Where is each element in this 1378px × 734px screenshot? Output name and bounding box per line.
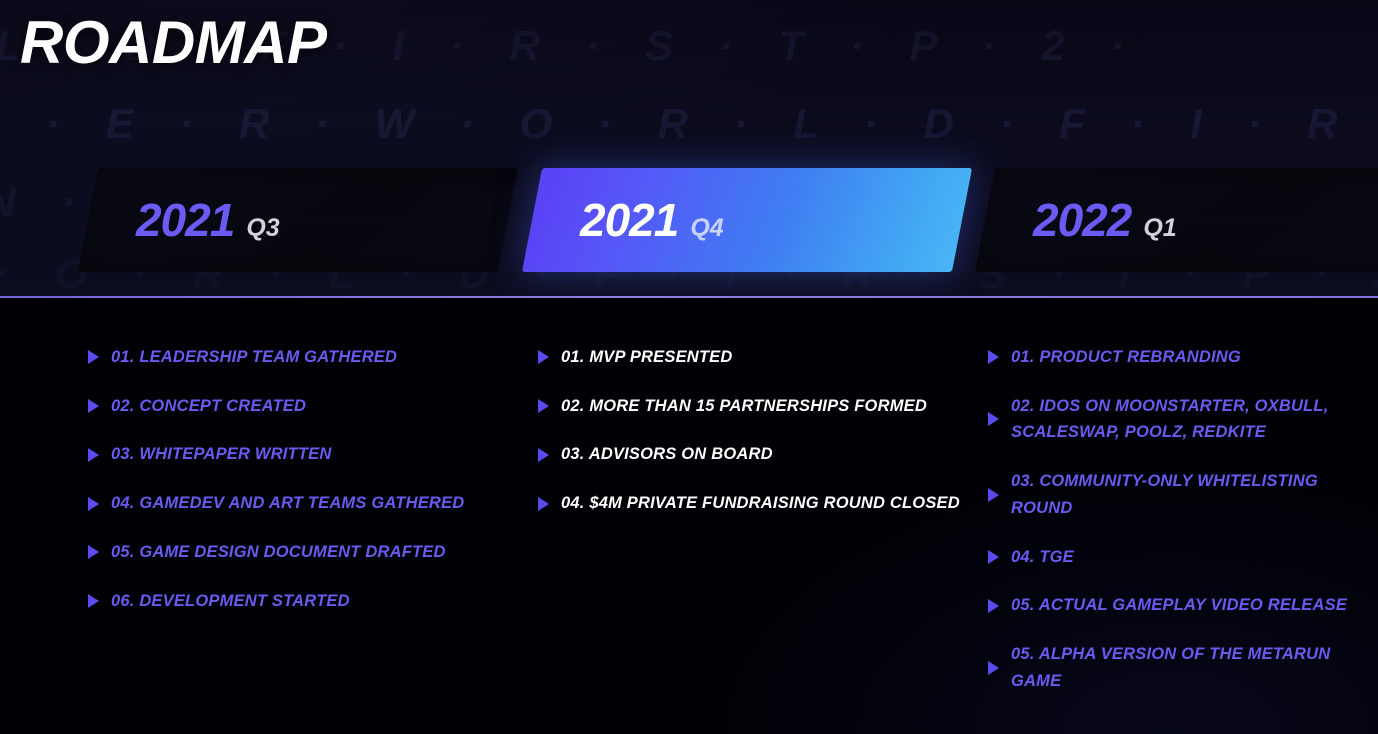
triangle-bullet-icon [988,412,999,426]
list-item[interactable]: 06. DEVELOPMENT STARTED [88,588,508,615]
list-item[interactable]: 02. IDOS ON MOONSTARTER, OXBULL, SCALESW… [988,393,1368,446]
tab-year-label: 2021 [580,197,678,243]
triangle-bullet-icon [988,488,999,502]
tab-quarter-label: Q4 [690,216,723,241]
roadmap-page: R · L · D · F · I · R · S · T · P · 2 · … [0,0,1378,734]
triangle-bullet-icon [538,350,549,364]
triangle-bullet-icon [538,399,549,413]
triangle-bullet-icon [988,661,999,675]
triangle-bullet-icon [538,448,549,462]
triangle-bullet-icon [988,350,999,364]
roadmap-header: R · L · D · F · I · R · S · T · P · 2 · … [0,0,1378,297]
page-title: ROADMAP [20,8,327,77]
list-item-label: 04. $4M PRIVATE FUNDRAISING ROUND CLOSED [561,490,960,517]
triangle-bullet-icon [88,497,99,511]
list-item[interactable]: 01. PRODUCT REBRANDING [988,344,1368,371]
list-item[interactable]: 04. GAMEDEV AND ART TEAMS GATHERED [88,490,508,517]
tab-year-label: 2021 [136,197,234,243]
list-item-label: 05. ALPHA VERSION OF THE METARUN GAME [1011,641,1368,694]
tab-2022-q1[interactable]: 2022 Q1 [975,168,1378,272]
list-item-label: 01. MVP PRESENTED [561,344,733,371]
header-divider [0,296,1378,298]
list-item-label: 05. ACTUAL GAMEPLAY VIDEO RELEASE [1011,592,1347,619]
list-item[interactable]: 04. TGE [988,544,1368,571]
roadmap-content: 01. LEADERSHIP TEAM GATHERED 02. CONCEPT… [0,298,1378,734]
triangle-bullet-icon [88,545,99,559]
tab-2021-q4[interactable]: 2021 Q4 [522,168,972,272]
list-item[interactable]: 03. ADVISORS ON BOARD [538,441,968,468]
list-item-label: 04. GAMEDEV AND ART TEAMS GATHERED [111,490,464,517]
triangle-bullet-icon [538,497,549,511]
list-item-label: 06. DEVELOPMENT STARTED [111,588,350,615]
tab-quarter-label: Q1 [1143,216,1176,241]
triangle-bullet-icon [988,550,999,564]
list-item-label: 01. LEADERSHIP TEAM GATHERED [111,344,397,371]
triangle-bullet-icon [88,448,99,462]
list-item-label: 04. TGE [1011,544,1074,571]
milestone-column-2021-q3: 01. LEADERSHIP TEAM GATHERED 02. CONCEPT… [88,344,508,636]
background-watermark-row-2: N · E · R · W · O · R · L · D · F · I · … [0,100,1378,148]
milestone-column-2022-q1: 01. PRODUCT REBRANDING 02. IDOS ON MOONS… [988,344,1368,716]
list-item[interactable]: 01. LEADERSHIP TEAM GATHERED [88,344,508,371]
list-item[interactable]: 01. MVP PRESENTED [538,344,968,371]
list-item-label: 01. PRODUCT REBRANDING [1011,344,1241,371]
tab-quarter-label: Q3 [246,216,279,241]
list-item[interactable]: 05. ACTUAL GAMEPLAY VIDEO RELEASE [988,592,1368,619]
list-item-label: 02. CONCEPT CREATED [111,393,306,420]
list-item[interactable]: 04. $4M PRIVATE FUNDRAISING ROUND CLOSED [538,490,968,517]
list-item-label: 03. ADVISORS ON BOARD [561,441,773,468]
list-item-label: 02. IDOS ON MOONSTARTER, OXBULL, SCALESW… [1011,393,1368,446]
list-item[interactable]: 03. WHITEPAPER WRITTEN [88,441,508,468]
triangle-bullet-icon [88,594,99,608]
list-item[interactable]: 02. MORE THAN 15 PARTNERSHIPS FORMED [538,393,968,420]
triangle-bullet-icon [988,599,999,613]
list-item[interactable]: 02. CONCEPT CREATED [88,393,508,420]
list-item[interactable]: 05. GAME DESIGN DOCUMENT DRAFTED [88,539,508,566]
list-item[interactable]: 03. COMMUNITY-ONLY WHITELISTING ROUND [988,468,1368,521]
tab-year-label: 2022 [1033,197,1131,243]
list-item-label: 02. MORE THAN 15 PARTNERSHIPS FORMED [561,393,927,420]
list-item-label: 03. WHITEPAPER WRITTEN [111,441,331,468]
triangle-bullet-icon [88,350,99,364]
tab-2021-q3[interactable]: 2021 Q3 [78,168,518,272]
list-item[interactable]: 05. ALPHA VERSION OF THE METARUN GAME [988,641,1368,694]
list-item-label: 05. GAME DESIGN DOCUMENT DRAFTED [111,539,446,566]
triangle-bullet-icon [88,399,99,413]
list-item-label: 03. COMMUNITY-ONLY WHITELISTING ROUND [1011,468,1368,521]
milestone-column-2021-q4: 01. MVP PRESENTED 02. MORE THAN 15 PARTN… [538,344,968,539]
quarter-tab-bar: 2021 Q3 2021 Q4 2022 Q1 [0,168,1378,278]
